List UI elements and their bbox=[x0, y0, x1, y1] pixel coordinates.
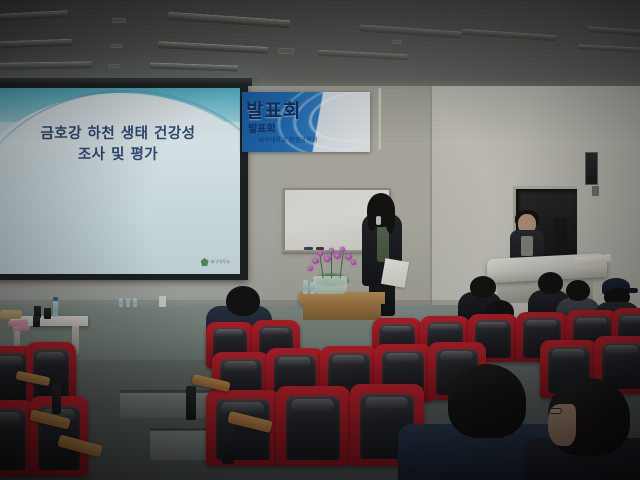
microphone bbox=[376, 216, 381, 225]
beverage-can bbox=[44, 308, 51, 319]
slide-title-line-2: 조사 및 평가 bbox=[0, 145, 240, 166]
wall-outlet bbox=[159, 296, 166, 307]
orchid-bloom bbox=[345, 254, 352, 260]
projection-screen: 금호강 하천 생태 건강성 조사 및 평가 대구대학교 bbox=[0, 84, 248, 280]
wall-fixture bbox=[592, 186, 599, 196]
floor-bottle bbox=[126, 298, 130, 307]
orchid-bloom bbox=[318, 251, 323, 256]
presentation-slide: 금호강 하천 생태 건강성 조사 및 평가 대구대학교 bbox=[0, 88, 240, 274]
ceiling-vent bbox=[108, 64, 120, 68]
audience-member-head bbox=[226, 286, 260, 316]
university-emblem-icon bbox=[201, 258, 209, 266]
auditorium-seat bbox=[0, 400, 34, 476]
orchid-bloom bbox=[340, 247, 345, 252]
orchid-bloom bbox=[351, 260, 356, 265]
water-bottle bbox=[303, 280, 308, 294]
ceiling-vent bbox=[112, 18, 126, 23]
whiteboard-marker bbox=[304, 247, 313, 250]
audience-member-head bbox=[470, 276, 496, 298]
front-table-apron bbox=[303, 304, 381, 320]
audience-member-head bbox=[566, 280, 590, 301]
orchid-bloom bbox=[308, 266, 313, 271]
table-item bbox=[0, 310, 22, 319]
ceiling-vent bbox=[110, 44, 123, 48]
ceiling-vent bbox=[392, 40, 402, 44]
audience-member-head bbox=[538, 272, 563, 294]
seat-arm-post bbox=[186, 386, 196, 420]
auditorium-seat bbox=[276, 386, 350, 466]
ceiling-vent bbox=[278, 48, 294, 54]
orchid-bloom bbox=[324, 256, 331, 262]
auditorium-seat bbox=[26, 342, 76, 404]
wall-corner-seam bbox=[430, 86, 432, 336]
presenter-papers bbox=[381, 258, 409, 288]
slide-logo-text: 대구대학교 bbox=[211, 259, 230, 265]
orchid-bloom bbox=[312, 258, 319, 264]
event-banner: 발표회 발표회 : 대구대학교 환경공학과 bbox=[242, 92, 370, 152]
auditorium-photo: 금호강 하천 생태 건강성 조사 및 평가 대구대학교 발표회 발표회 : 대구… bbox=[0, 0, 640, 480]
orchid-bloom bbox=[334, 253, 341, 259]
seat-arm-post bbox=[52, 384, 61, 414]
banner-headline: 발표회 bbox=[246, 96, 301, 123]
orchid-stem bbox=[331, 250, 332, 278]
banner-detail: : 대구대학교 환경공학과 bbox=[254, 135, 318, 144]
podium-person-shirt bbox=[521, 236, 533, 256]
seat-arm-post bbox=[222, 424, 234, 464]
slide-title-line-1: 금호강 하천 생태 건강성 bbox=[0, 124, 240, 145]
audience-member-head bbox=[448, 364, 526, 438]
alcove-dark-object bbox=[553, 218, 567, 248]
beverage-can bbox=[33, 316, 40, 327]
water-bottle bbox=[53, 300, 58, 317]
floor-bottle bbox=[133, 298, 137, 307]
water-bottle bbox=[310, 282, 315, 294]
banner-support-pole bbox=[378, 88, 382, 150]
banner-subline: 발표회 bbox=[248, 120, 276, 135]
wall-speaker bbox=[585, 152, 598, 185]
eyeglasses-icon bbox=[549, 408, 562, 414]
bottle-cap bbox=[53, 297, 58, 301]
orchid-pot bbox=[313, 276, 347, 294]
orchid-bloom bbox=[329, 248, 334, 253]
whiteboard-marker bbox=[316, 247, 324, 250]
presenter-hair bbox=[367, 193, 395, 227]
pink-folder bbox=[12, 326, 30, 332]
slide-title: 금호강 하천 생태 건강성 조사 및 평가 bbox=[0, 124, 240, 166]
floor-bottle bbox=[119, 298, 123, 307]
slide-university-logo: 대구대학교 bbox=[201, 258, 230, 266]
